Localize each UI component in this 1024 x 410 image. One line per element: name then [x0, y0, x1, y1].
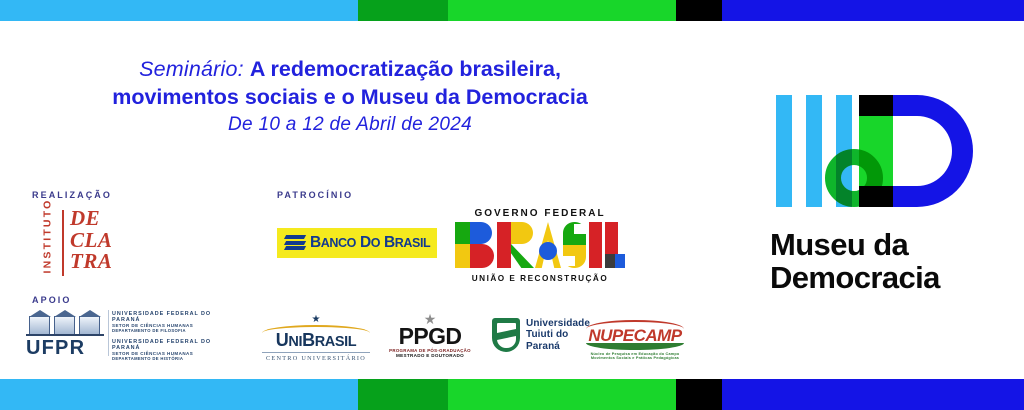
- logo-universidade-tuiuti: Universidade Tuiuti do Paraná: [492, 318, 590, 352]
- museu-black-block-top: [859, 95, 893, 116]
- ppgd-subtitle-1: PROGRAMA DE PÓS-GRADUAÇÃO: [384, 348, 476, 353]
- brasil-logo-graphic: [455, 222, 625, 270]
- bb-w2: D: [360, 234, 371, 251]
- museu-title-line-2: Democracia: [770, 262, 995, 295]
- museu-glyph-icon: [770, 95, 978, 207]
- headline-line-2: movimentos sociais e o Museu da Democrac…: [0, 84, 700, 112]
- headline-title-part-1: A redemocratização brasileira,: [250, 57, 561, 81]
- logo-ufpr: UFPR: [26, 310, 104, 358]
- headline-line-1: Seminário: A redemocratização brasileira…: [0, 56, 700, 84]
- strip-segment-light-blue-bottom: [0, 379, 358, 410]
- ufpr-b1-l1: UNIVERSIDADE FEDERAL DO PARANÁ: [112, 311, 240, 323]
- bb-w3b: RASIL: [395, 236, 431, 250]
- brasil-letter-b-bowl-top: [470, 222, 492, 244]
- brasil-letter-b-lower: [455, 244, 470, 268]
- ufpr-dept-block-historia: UNIVERSIDADE FEDERAL DO PARANÁ SETOR DE …: [112, 339, 240, 361]
- brasil-letter-r-leg: [511, 244, 534, 268]
- caption-apoio: APOIO: [32, 295, 72, 305]
- unibrasil-wordmark: UNIBRASIL: [262, 330, 370, 351]
- brasil-letter-b: [455, 222, 470, 244]
- unibrasil-star-icon: ★: [262, 316, 370, 324]
- strip-segment-blue-bottom: [722, 379, 1024, 410]
- bb-w3: B: [384, 234, 395, 251]
- strip-segment-black: [676, 0, 722, 21]
- nupecamp-wordmark: NUPECAMP: [586, 327, 684, 344]
- nupecamp-subtitle-1: Núcleo de Pesquisa em Educação do Campo: [586, 352, 684, 356]
- ufpr-department-texts: UNIVERSIDADE FEDERAL DO PARANÁ SETOR DE …: [112, 311, 240, 367]
- ufpr-b1-l3: DEPARTAMENTO DE FILOSOFIA: [112, 328, 240, 333]
- headline-dates: De 10 a 12 de Abril de 2024: [0, 113, 700, 137]
- governo-federal-bottom-label: UNIÃO E RECONSTRUÇÃO: [455, 274, 625, 283]
- brasil-letter-l-foot: [615, 254, 625, 268]
- brasil-letter-b-bowl-bot: [470, 244, 494, 268]
- strip-segment-bright-green: [448, 0, 676, 21]
- declatra-wordmark: DE CLA TRA: [70, 208, 112, 273]
- ub-n2: B: [302, 330, 315, 350]
- ufpr-b2-l3: DEPARTAMENTO DE HISTÓRIA: [112, 356, 240, 361]
- logo-museu-da-democracia: Museu da Democracia: [770, 95, 995, 295]
- headline-block: Seminário: A redemocratização brasileira…: [0, 56, 700, 137]
- banco-do-brasil-wordmark: BANCO DO BRASIL: [310, 234, 430, 252]
- tuiuti-l1: Universidade: [526, 318, 590, 329]
- event-banner: Seminário: A redemocratização brasileira…: [0, 0, 1024, 410]
- ub-n2b: RASIL: [315, 334, 357, 350]
- logo-instituto-declatra: INSTITUTO DE CLA TRA: [26, 208, 146, 280]
- logo-unibrasil: ★ UNIBRASIL CENTRO UNIVERSITÁRIO: [262, 316, 370, 362]
- unibrasil-swoosh-icon: [262, 325, 370, 333]
- ub-n1b: NI: [288, 334, 302, 350]
- headline-prefix: Seminário:: [139, 57, 244, 81]
- brasil-letter-i: [589, 222, 602, 268]
- strip-segment-blue: [722, 0, 1024, 21]
- declatra-line-1: DE: [70, 208, 112, 230]
- declatra-divider: [62, 210, 64, 276]
- museu-title: Museu da Democracia: [770, 229, 995, 294]
- bottom-color-strip: [0, 379, 1024, 410]
- caption-patrocinio: PATROCÍNIO: [277, 190, 353, 200]
- ufpr-building-icon: [26, 310, 104, 336]
- strip-segment-bright-green-bottom: [448, 379, 676, 410]
- nupecamp-subtitle-2: Movimentos Sociais e Práticas Pedagógica…: [586, 356, 684, 360]
- logo-banco-do-brasil: BANCO DO BRASIL: [277, 228, 437, 258]
- governo-federal-top-label: GOVERNO FEDERAL: [455, 208, 625, 219]
- brasil-letter-a-dot: [539, 242, 557, 260]
- declatra-vertical-word: INSTITUTO: [42, 198, 54, 273]
- declatra-line-3: TRA: [70, 251, 112, 273]
- strip-segment-dark-green: [358, 0, 448, 21]
- bb-w1b: ANCO: [321, 236, 356, 250]
- tuiuti-l2: Tuiuti do: [526, 329, 590, 340]
- banco-do-brasil-diamond-icon: [285, 234, 305, 252]
- tuiuti-wordmark: Universidade Tuiuti do Paraná: [526, 318, 590, 352]
- ub-n1: U: [276, 330, 289, 350]
- bb-w1: B: [310, 234, 321, 251]
- ufpr-divider: [108, 310, 109, 356]
- brasil-letter-s-notch-a: [574, 224, 586, 234]
- unibrasil-subtitle: CENTRO UNIVERSITÁRIO: [262, 352, 370, 362]
- tuiuti-l3: Paraná: [526, 341, 590, 352]
- museu-black-block-bottom: [859, 186, 893, 207]
- top-color-strip: [0, 0, 1024, 21]
- ufpr-dept-block-filosofia: UNIVERSIDADE FEDERAL DO PARANÁ SETOR DE …: [112, 311, 240, 333]
- logo-ppgd: ★ PPGD PROGRAMA DE PÓS-GRADUAÇÃO MESTRAD…: [384, 314, 476, 358]
- nupecamp-arc-icon: [586, 320, 684, 329]
- logo-nupecamp: NUPECAMP Núcleo de Pesquisa em Educação …: [586, 320, 684, 360]
- museu-title-line-1: Museu da: [770, 229, 995, 262]
- strip-segment-black-bottom: [676, 379, 722, 410]
- brasil-letter-r-bowl: [511, 222, 533, 244]
- declatra-line-2: CLA: [70, 230, 112, 252]
- logo-governo-federal: GOVERNO FEDERAL UNIÃO E R: [455, 208, 625, 286]
- ppgd-subtitle-2: MESTRADO E DOUTORADO: [384, 353, 476, 358]
- museu-bar-2: [806, 95, 822, 207]
- strip-segment-dark-green-bottom: [358, 379, 448, 410]
- tuiuti-shield-icon: [492, 318, 520, 352]
- ppgd-acronym: PPGD: [384, 325, 476, 348]
- brasil-letter-r-stem: [497, 222, 511, 268]
- ufpr-acronym: UFPR: [26, 338, 104, 358]
- brasil-letter-s-notch-b: [563, 256, 575, 266]
- brasil-letter-l-foot-dark: [605, 254, 615, 268]
- strip-segment-light-blue: [0, 0, 358, 21]
- ufpr-b2-l1: UNIVERSIDADE FEDERAL DO PARANÁ: [112, 339, 240, 351]
- bb-w2b: O: [371, 236, 380, 250]
- museu-bar-1: [776, 95, 792, 207]
